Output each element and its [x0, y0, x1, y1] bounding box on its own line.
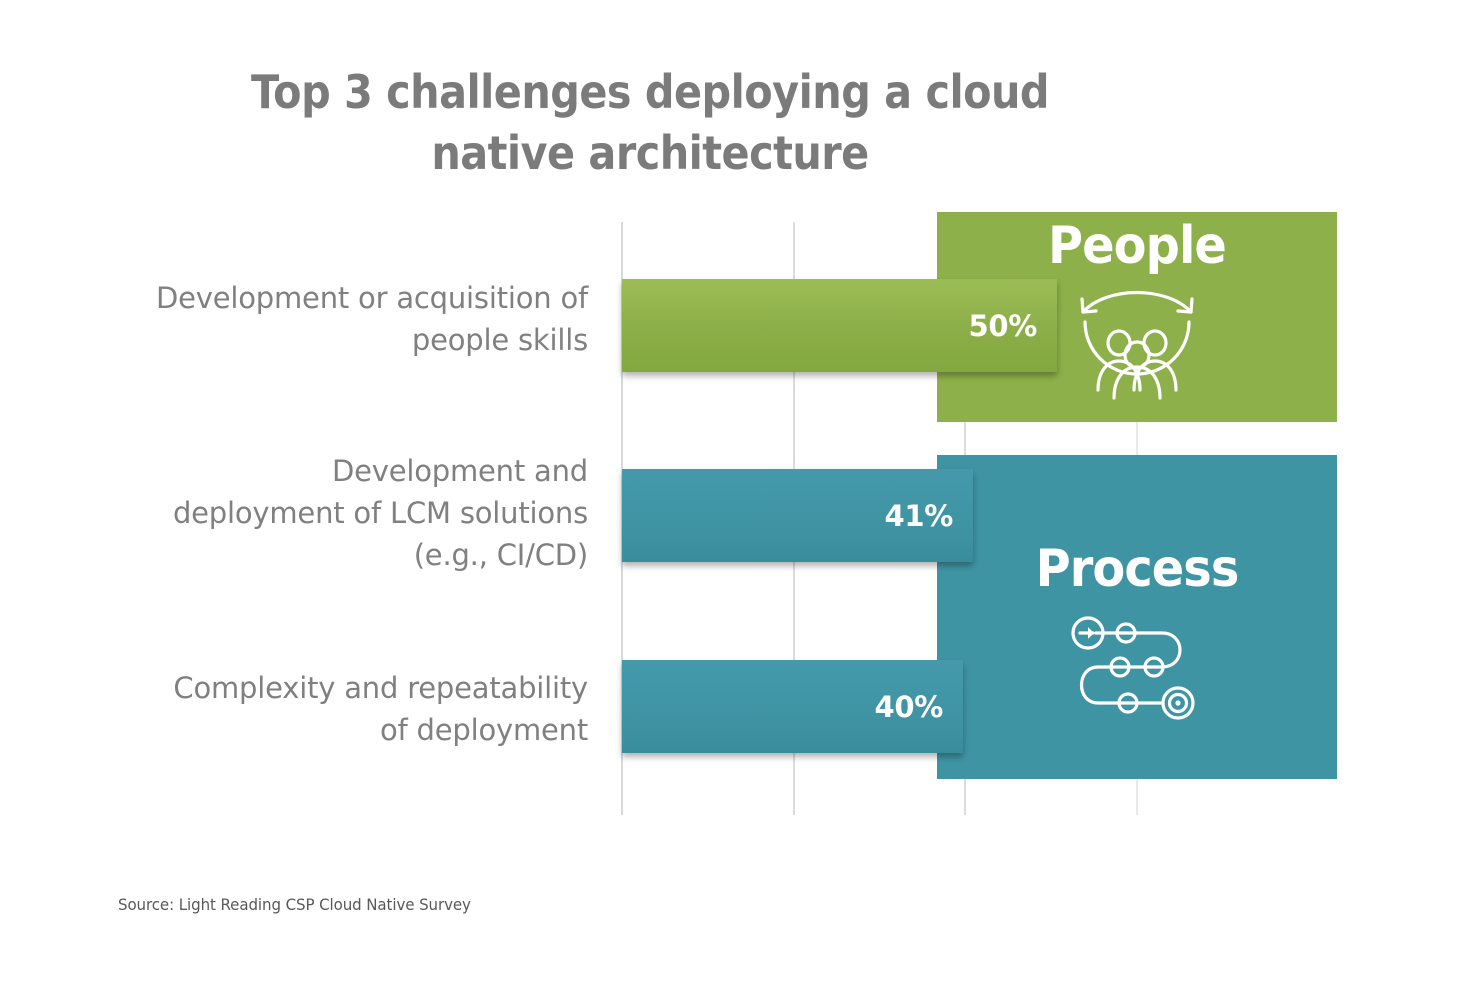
category-axis-labels: Development or acquisition of people ski… — [88, 0, 588, 820]
chart-canvas: Top 3 challenges deploying a cloud nativ… — [0, 0, 1480, 1000]
bar-value-label: 50% — [968, 309, 1057, 343]
category-label-complexity-deployment: Complexity and repeatability of deployme… — [88, 667, 588, 751]
process-flow-path-icon — [937, 611, 1337, 723]
bar-complexity-deployment[interactable]: 40% — [622, 660, 963, 753]
plot-area: People — [621, 212, 1337, 812]
category-label-people-skills: Development or acquisition of people ski… — [88, 277, 588, 361]
source-note: Source: Light Reading CSP Cloud Native S… — [118, 895, 471, 914]
bar-lcm-solutions[interactable]: 41% — [622, 469, 973, 562]
group-panel-people-label: People — [953, 212, 1321, 272]
group-panel-process-label: Process — [953, 455, 1321, 595]
group-panel-process: Process — [937, 455, 1337, 779]
bar-value-label: 40% — [874, 690, 963, 724]
category-label-lcm-solutions: Development and deployment of LCM soluti… — [88, 450, 588, 576]
bar-value-label: 41% — [884, 499, 973, 533]
bar-people-skills[interactable]: 50% — [622, 279, 1057, 372]
